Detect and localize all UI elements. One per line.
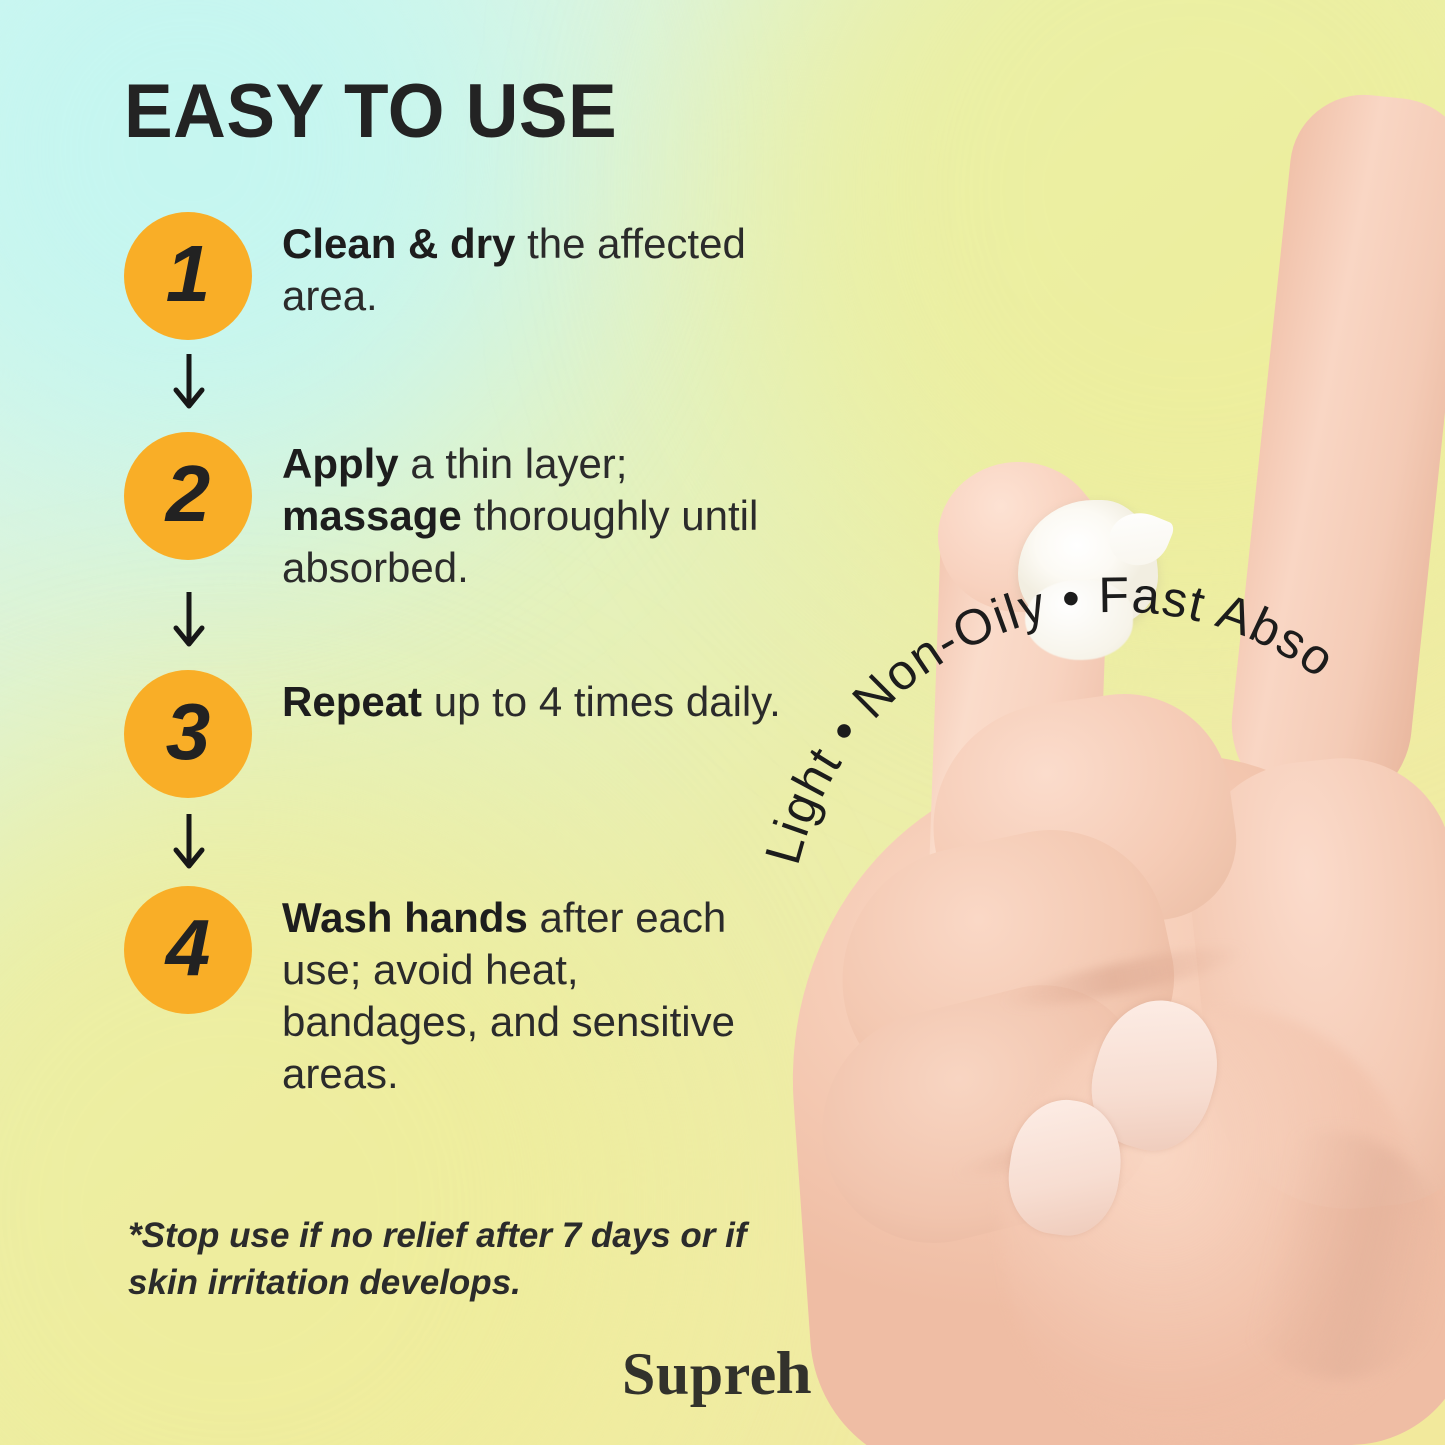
disclaimer-text: *Stop use if no relief after 7 days or i… (128, 1212, 768, 1306)
step-number-1: 1 (166, 234, 211, 314)
step-text-4: Wash hands after each use; avoid heat, b… (282, 892, 782, 1100)
step-text-3: Repeat up to 4 times daily. (282, 676, 782, 728)
brand-logo: Supreh (622, 1340, 811, 1408)
step-emphasis-3a: Repeat (282, 678, 422, 725)
down-arrow-icon-1 (172, 352, 206, 414)
step-number-2: 2 (166, 454, 211, 534)
step-rest-3a: up to 4 times daily. (422, 678, 781, 725)
step-rest-2a: a thin layer; (399, 440, 628, 487)
brand-logo-flag: h (775, 1339, 812, 1407)
instructions-panel: EASY TO USE 1 Clean & dry the affected a… (0, 0, 820, 1445)
step-text-2: Apply a thin layer; massage thoroughly u… (282, 438, 782, 594)
step-badge-2: 2 (124, 432, 252, 560)
down-arrow-icon-2 (172, 590, 206, 652)
step-number-3: 3 (166, 692, 211, 772)
cream-base (1025, 580, 1133, 660)
step-emphasis-2b: massage (282, 492, 462, 539)
page-title: EASY TO USE (124, 70, 617, 154)
step-emphasis-4a: Wash hands (282, 894, 528, 941)
step-badge-3: 3 (124, 670, 252, 798)
step-badge-4: 4 (124, 886, 252, 1014)
step-emphasis-1a: Clean & dry (282, 220, 515, 267)
brand-logo-text: Supre (622, 1341, 777, 1407)
infographic-canvas: Light • Non-Oily • Fast Absorption EASY … (0, 0, 1445, 1445)
down-arrow-icon-3 (172, 812, 206, 874)
thumb-right (1223, 88, 1445, 823)
step-emphasis-2a: Apply (282, 440, 399, 487)
step-number-4: 4 (166, 908, 211, 988)
step-text-1: Clean & dry the affected area. (282, 218, 782, 322)
step-badge-1: 1 (124, 212, 252, 340)
